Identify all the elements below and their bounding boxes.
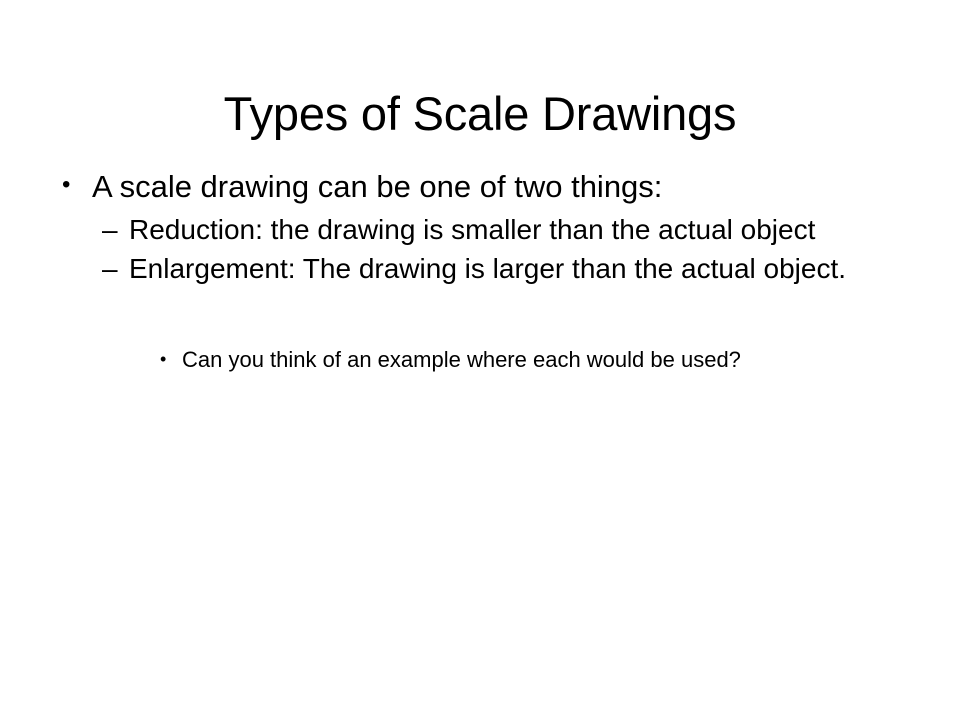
bullet-list-item-enlargement: – Enlargement: The drawing is larger tha…	[102, 251, 916, 286]
bullet-list-item-level-1: • A scale drawing can be one of two thin…	[56, 168, 916, 206]
page-title: Types of Scale Drawings	[0, 89, 960, 139]
round-bullet-icon: •	[56, 168, 92, 203]
slide-body-content: • A scale drawing can be one of two thin…	[56, 168, 916, 374]
round-bullet-icon: •	[160, 346, 182, 373]
bullet-text-question: Can you think of an example where each w…	[182, 346, 854, 374]
bullet-text-intro: A scale drawing can be one of two things…	[92, 168, 892, 206]
bullet-text-reduction: Reduction: the drawing is smaller than t…	[129, 212, 916, 247]
slide-canvas: Types of Scale Drawings • A scale drawin…	[0, 0, 960, 720]
bullet-list-item-reduction: – Reduction: the drawing is smaller than…	[102, 212, 916, 247]
dash-bullet-icon: –	[102, 212, 129, 247]
bullet-text-enlargement: Enlargement: The drawing is larger than …	[129, 251, 916, 286]
dash-bullet-icon: –	[102, 251, 129, 286]
bullet-list-item-question: • Can you think of an example where each…	[160, 346, 916, 374]
